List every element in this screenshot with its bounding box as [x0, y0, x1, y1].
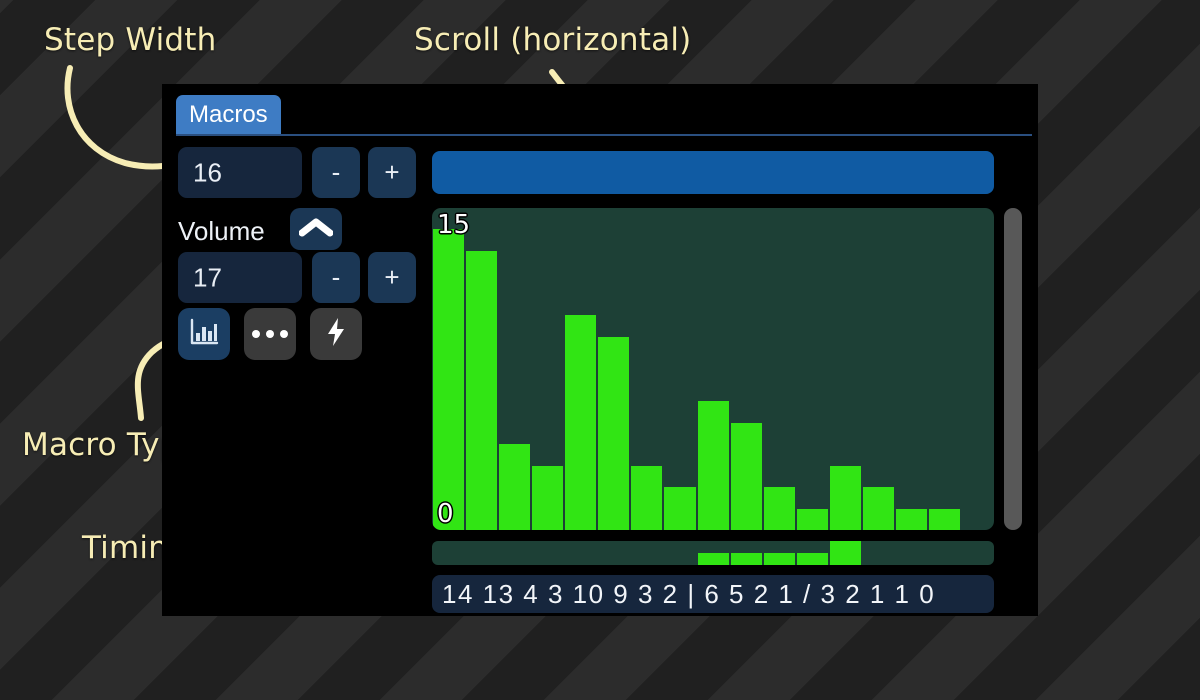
bar: [698, 401, 729, 530]
step-width-input[interactable]: 16: [178, 147, 302, 198]
tab-macros[interactable]: Macros: [176, 95, 281, 135]
bar: [764, 487, 795, 530]
macro-bar-chart[interactable]: 15 0: [432, 208, 994, 530]
bar-chart-icon: [189, 318, 219, 351]
overview-bar: [830, 541, 861, 565]
vertical-scrollbar-thumb[interactable]: [1004, 208, 1022, 530]
macros-panel: Macros 16 - + Volume 17 - +: [162, 84, 1038, 616]
volume-input[interactable]: 17: [178, 252, 302, 303]
annotation-step-width: Step Width: [44, 22, 217, 58]
values-strip[interactable]: 14 13 4 3 10 9 3 2 | 6 5 2 1 / 3 2 1 1 0: [432, 575, 994, 613]
overview-bar: [764, 553, 795, 565]
volume-collapse-button[interactable]: [290, 208, 342, 250]
step-width-minus-button[interactable]: -: [312, 147, 360, 198]
tab-bar: Macros: [162, 84, 1038, 135]
volume-plus-button[interactable]: +: [368, 252, 416, 303]
ellipsis-icon: [252, 330, 288, 338]
step-width-value: 16: [193, 157, 222, 188]
annotation-scroll-horizontal: Scroll (horizontal): [414, 22, 691, 58]
overview-bar: [797, 553, 828, 565]
macro-type-button[interactable]: [178, 308, 230, 360]
volume-label: Volume: [178, 212, 265, 250]
bar: [499, 444, 530, 530]
overview-strip[interactable]: [432, 541, 994, 565]
timing-options-button[interactable]: [244, 308, 296, 360]
screenshot-root: Step Width Scroll (horizontal) Macro Typ…: [0, 0, 1200, 700]
bar: [532, 466, 563, 530]
bar: [631, 466, 662, 530]
bar-series: [432, 208, 994, 530]
volume-value: 17: [193, 262, 222, 293]
bar: [731, 423, 762, 530]
step-width-plus-button[interactable]: +: [368, 147, 416, 198]
bar: [896, 509, 927, 530]
bar: [433, 229, 464, 530]
bar: [466, 251, 497, 530]
lightning-icon: [326, 317, 346, 352]
bar: [598, 337, 629, 530]
overview-bar: [731, 553, 762, 565]
overview-bar-series: [432, 541, 994, 565]
chevron-up-icon: [299, 217, 333, 242]
bar: [929, 509, 960, 530]
volume-minus-button[interactable]: -: [312, 252, 360, 303]
bar: [797, 509, 828, 530]
bar: [863, 487, 894, 530]
horizontal-scrollbar[interactable]: [432, 151, 994, 194]
bar: [830, 466, 861, 530]
flash-button[interactable]: [310, 308, 362, 360]
vertical-scrollbar[interactable]: [1002, 208, 1024, 530]
bar: [664, 487, 695, 530]
overview-bar: [698, 553, 729, 565]
bar: [565, 315, 596, 530]
tab-underline: [176, 134, 1032, 136]
